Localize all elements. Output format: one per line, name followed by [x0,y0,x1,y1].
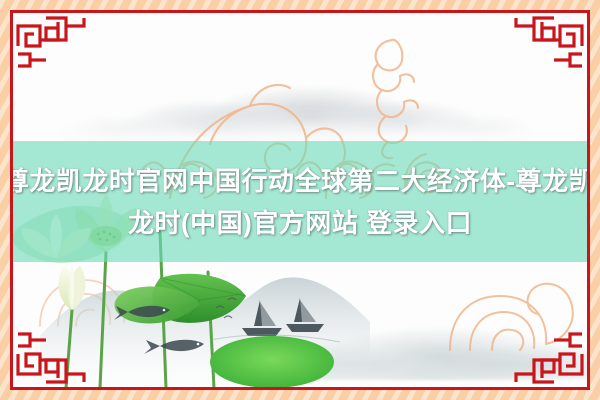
headline-block: 尊龙凯龙时官网中国行动全球第二大经济体-尊龙凯 龙时(中国)官方网站 登录入口 [10,141,590,262]
headline-line-2: 龙时(中国)官方网站 登录入口 [128,203,472,243]
lotus-pad-floating [210,336,334,388]
poster-canvas: 尊龙凯龙时官网中国行动全球第二大经济体-尊龙凯 龙时(中国)官方网站 登录入口 [0,0,600,400]
headline-line-1: 尊龙凯龙时官网中国行动全球第二大经济体-尊龙凯 [10,161,590,201]
poster-inner-card: 尊龙凯龙时官网中国行动全球第二大经济体-尊龙凯 龙时(中国)官方网站 登录入口 [10,10,590,390]
